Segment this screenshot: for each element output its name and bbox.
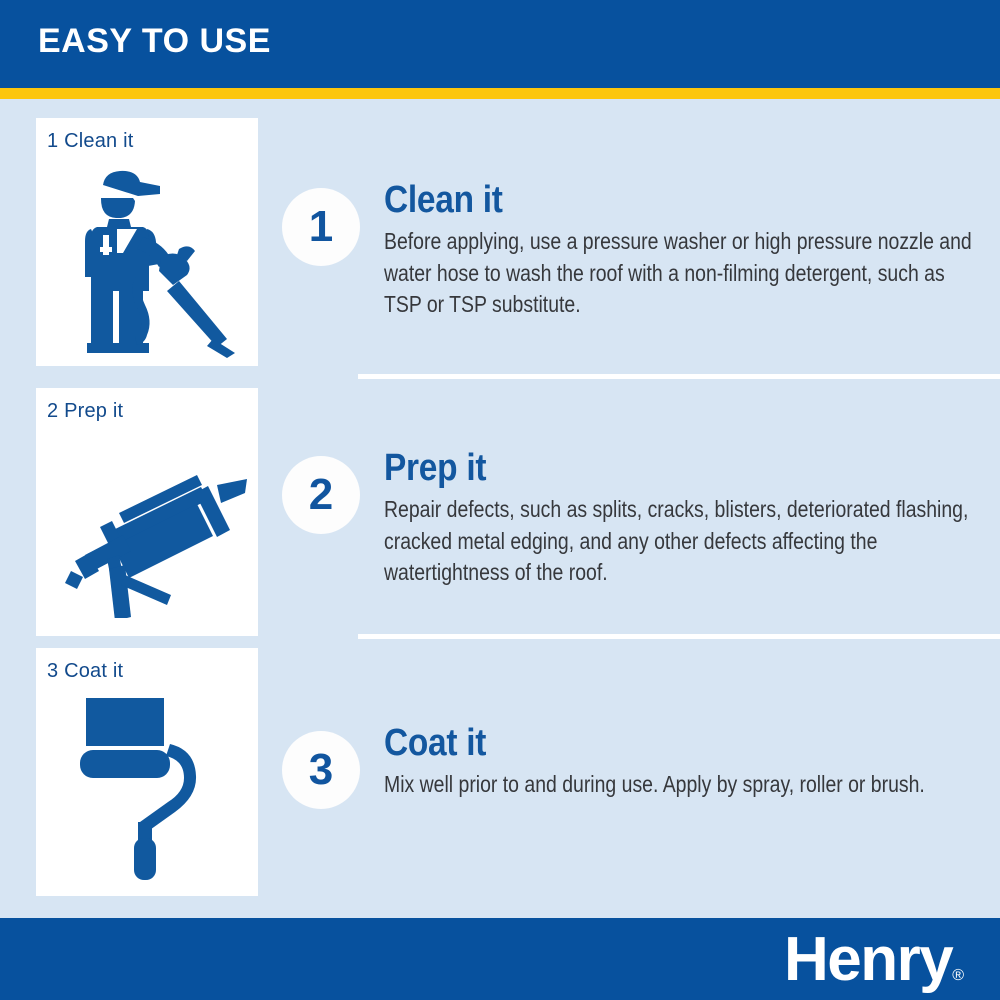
paint-roller-icon (36, 688, 258, 893)
step-heading: Clean it (384, 181, 910, 221)
step-body: Mix well prior to and during use. Apply … (384, 769, 980, 801)
step-body: Before applying, use a pressure washer o… (384, 226, 980, 321)
step-body: Repair defects, such as splits, cracks, … (384, 494, 980, 589)
thumbnail-card-clean[interactable]: 1 Clean it (36, 118, 258, 366)
header-band: EASY TO USE (0, 0, 1000, 88)
header-accent-rule (0, 88, 1000, 99)
step-number-badge: 2 (282, 456, 360, 534)
caulk-gun-icon (36, 428, 258, 633)
infographic-page: EASY TO USE 1 Clean it (0, 0, 1000, 1000)
step-number-badge: 1 (282, 188, 360, 266)
step-heading: Prep it (384, 449, 910, 489)
step-number: 1 (309, 205, 333, 249)
step-heading: Coat it (384, 724, 910, 764)
thumbnail-label: 1 Clean it (47, 130, 134, 153)
footer-band: Henry® (0, 918, 1000, 1000)
step-number: 3 (309, 748, 333, 792)
step-divider (358, 374, 1000, 379)
step-number: 2 (309, 473, 333, 517)
thumbnail-label: 2 Prep it (47, 400, 123, 423)
step-text-group: Clean it Before applying, use a pressure… (384, 181, 982, 321)
thumbnail-card-coat[interactable]: 3 Coat it (36, 648, 258, 896)
registered-trademark-icon: ® (952, 967, 964, 984)
step-text-group: Prep it Repair defects, such as splits, … (384, 449, 982, 589)
thumbnail-card-prep[interactable]: 2 Prep it (36, 388, 258, 636)
step-number-badge: 3 (282, 731, 360, 809)
step-text-group: Coat it Mix well prior to and during use… (384, 724, 982, 801)
worker-pressure-washer-icon (36, 158, 258, 363)
brand-name: Henry (784, 925, 952, 994)
brand-logo: Henry® (784, 927, 964, 992)
page-title: EASY TO USE (38, 22, 271, 61)
step-divider (358, 634, 1000, 639)
content-area: 1 Clean it (0, 99, 1000, 918)
thumbnail-label: 3 Coat it (47, 660, 123, 683)
